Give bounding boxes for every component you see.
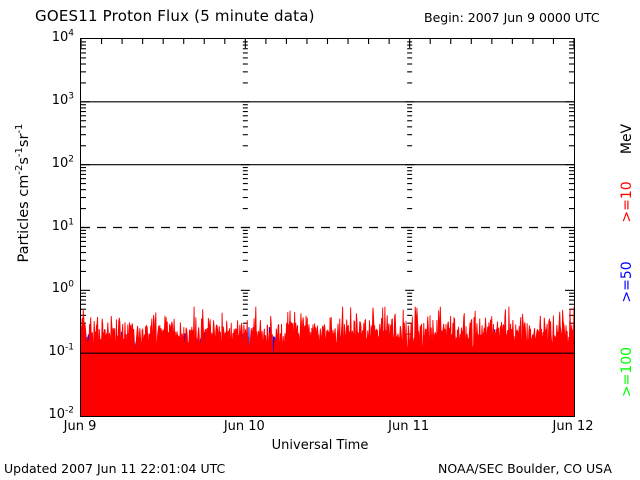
y-tick-label: 100 [28,282,74,295]
agency-credit: NOAA/SEC Boulder, CO USA [438,461,612,476]
y-tick-label: 104 [28,31,74,44]
begin-timestamp: Begin: 2007 Jun 9 0000 UTC [424,10,600,25]
legend-ge10: >=10 [619,167,635,237]
x-tick-label: Jun 11 [374,419,444,434]
y-tick-label: 102 [28,157,74,170]
trace--10-mev [81,307,574,416]
y-axis-title: Particles cm-2s-1sr-1 [16,63,32,323]
x-axis-title: Universal Time [0,438,640,453]
y-tick-label: 101 [28,220,74,233]
plot-frame [80,38,575,417]
x-tick-label: Jun 12 [538,419,608,434]
page-title: GOES11 Proton Flux (5 minute data) [35,7,315,25]
y-tick-label: 10-1 [28,345,74,358]
x-tick-label: Jun 9 [45,419,115,434]
legend-units: MeV [619,104,635,174]
plot-area [81,39,574,416]
legend-ge50: >=50 [619,247,635,317]
updated-timestamp: Updated 2007 Jun 11 22:01:04 UTC [4,461,225,476]
legend-ge100: >=100 [619,337,635,407]
y-tick-label: 103 [28,94,74,107]
chart-canvas: GOES11 Proton Flux (5 minute data) Begin… [0,0,640,480]
data-traces [81,39,574,416]
x-tick-label: Jun 10 [209,419,279,434]
